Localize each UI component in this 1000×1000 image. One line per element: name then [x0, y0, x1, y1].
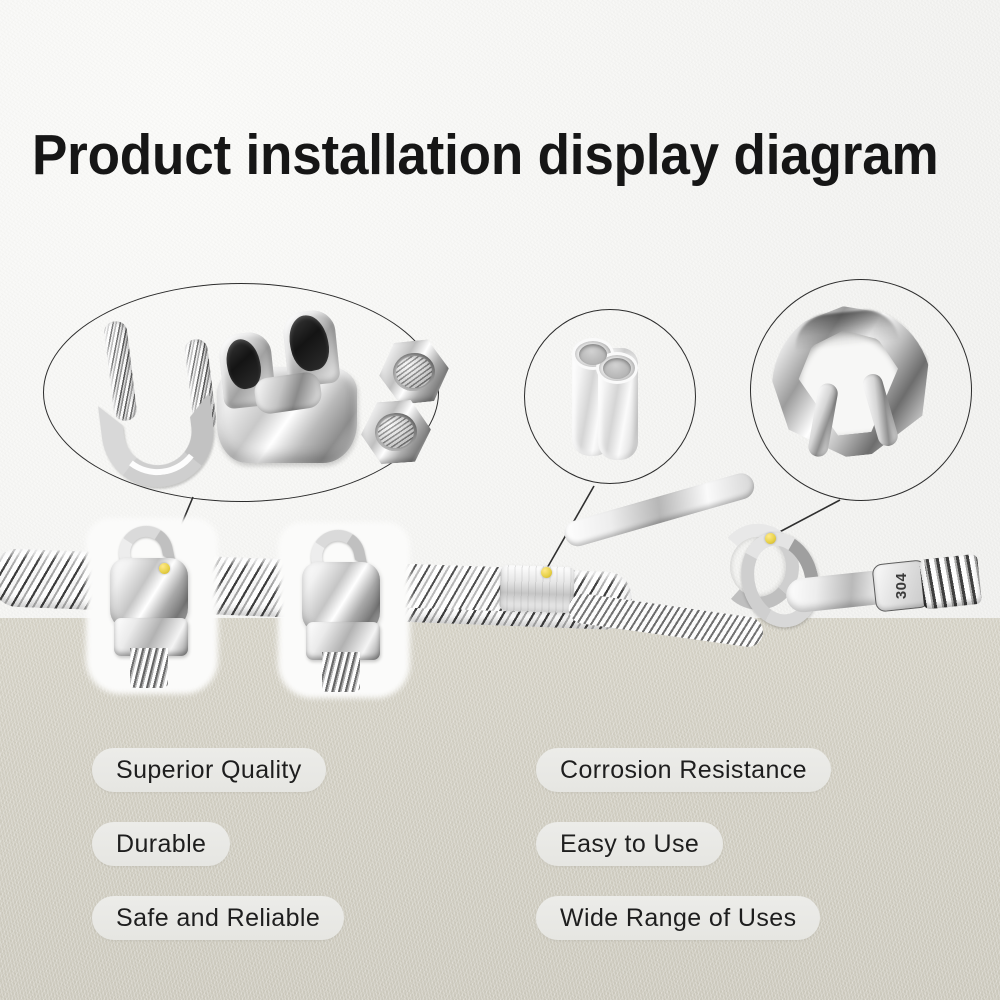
callout-wire-rope-thimble — [750, 279, 972, 501]
installed-wire-rope-clip-2 — [288, 530, 400, 690]
saddle-clamp-part — [211, 305, 373, 470]
feature-pill-easy-to-use: Easy to Use — [536, 822, 723, 866]
hook-threaded-rod — [919, 554, 982, 610]
sleeve-bore-left — [579, 344, 607, 365]
feature-pill-superior-quality: Superior Quality — [92, 748, 326, 792]
hook-stamp-label: 304 — [877, 559, 925, 613]
leader-marker-dot-sleeve — [541, 567, 552, 578]
installed-crimp-sleeve — [499, 565, 575, 614]
callout-wire-rope-clip-parts — [43, 283, 439, 502]
leader-marker-dot-clip — [159, 563, 170, 574]
crimp-sleeve-part — [572, 332, 644, 458]
sleeve-bore-right — [603, 358, 631, 379]
leader-marker-dot-thimble — [765, 533, 776, 544]
feature-pill-durable: Durable — [92, 822, 230, 866]
feature-pill-wide-range-of-uses: Wide Range of Uses — [536, 896, 820, 940]
clip-threaded-shank — [322, 652, 360, 692]
feature-pill-corrosion-resistance: Corrosion Resistance — [536, 748, 831, 792]
feature-pill-safe-and-reliable: Safe and Reliable — [92, 896, 344, 940]
clip-threaded-shank — [130, 648, 168, 688]
hex-nut-upper — [376, 338, 452, 407]
hex-nut-lower — [359, 399, 433, 466]
callout-aluminum-crimp-sleeve — [524, 309, 696, 484]
product-diagram-page: Product installation display diagram — [0, 0, 1000, 1000]
thimble-part — [764, 296, 957, 481]
installed-wire-rope-clip-1 — [96, 526, 208, 686]
page-title: Product installation display diagram — [32, 124, 938, 186]
